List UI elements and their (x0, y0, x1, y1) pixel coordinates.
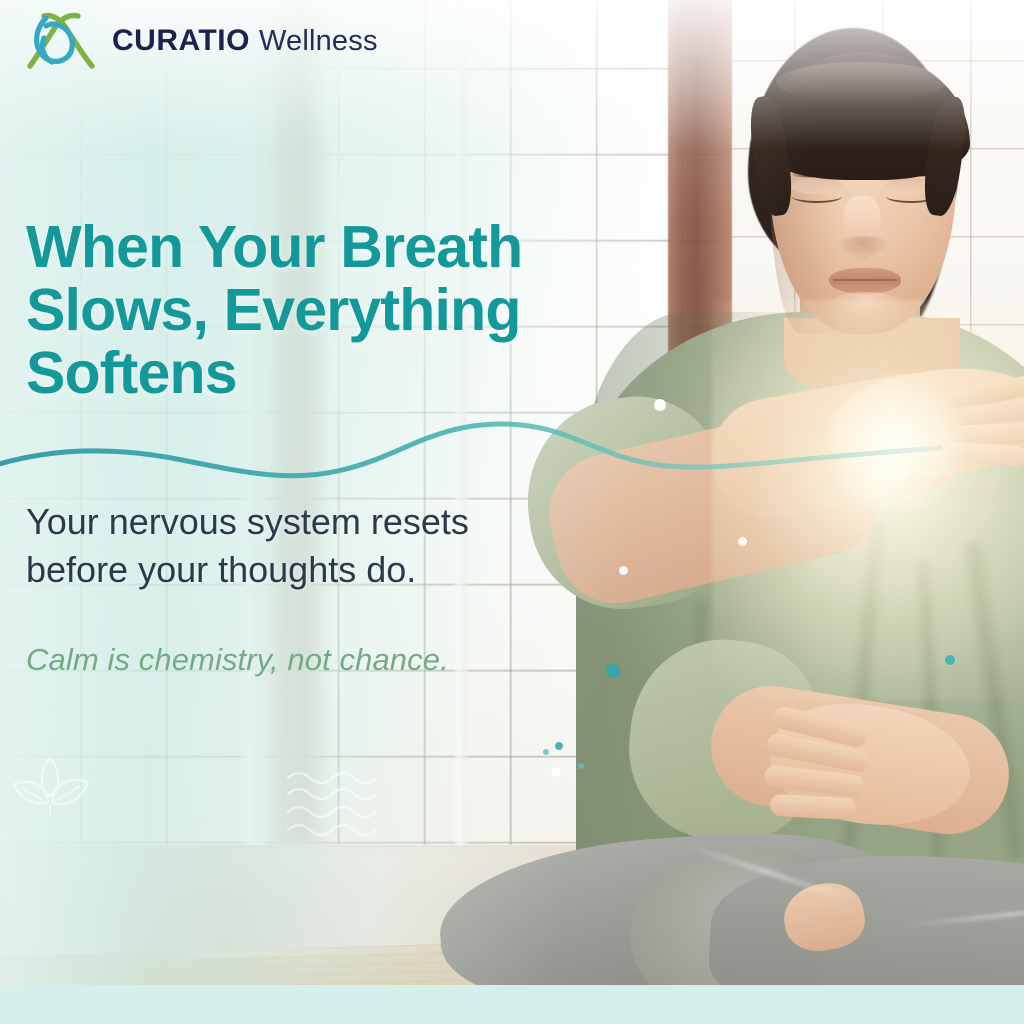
subhead-line-1: Your nervous system resets (26, 498, 566, 546)
nose-shadow (835, 236, 891, 258)
lips (829, 268, 901, 294)
chin-highlight (820, 292, 912, 334)
brand-wordmark: CURATIO Wellness (112, 24, 378, 58)
subhead: Your nervous system resets before your t… (26, 498, 566, 593)
water-waves-icon (286, 770, 378, 836)
brand-logo[interactable]: CURATIO Wellness (22, 12, 378, 70)
headline-line-2: Slows, Everything (26, 279, 646, 342)
subhead-line-2: before your thoughts do. (26, 546, 566, 594)
sprout-leaves-icon (8, 748, 92, 824)
headline: When Your Breath Slows, Everything Softe… (26, 216, 646, 405)
headline-line-3: Softens (26, 342, 646, 405)
finger (769, 794, 856, 820)
brand-name-primary: CURATIO (112, 24, 250, 58)
dna-helix-logo-mark (22, 12, 100, 70)
text-content: When Your Breath Slows, Everything Softe… (0, 0, 660, 1024)
tagline: Calm is chemistry, not chance. (26, 640, 586, 680)
wellness-social-post: CURATIO Wellness When Your Breath Slows,… (0, 0, 1024, 1024)
brand-name-secondary: Wellness (259, 25, 378, 58)
headline-line-1: When Your Breath (26, 216, 646, 279)
closed-eye-left (792, 190, 842, 203)
